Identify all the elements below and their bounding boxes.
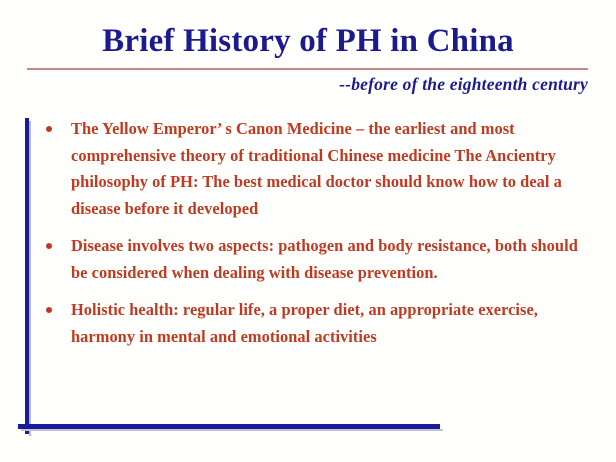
vertical-accent-line [25, 118, 29, 434]
bullet-dot-icon [46, 243, 52, 249]
horizontal-accent-line-shadow [21, 429, 443, 431]
bullet-text: Holistic health: regular life, a proper … [71, 297, 592, 350]
list-item: The Yellow Emperor’ s Canon Medicine – t… [40, 116, 592, 222]
slide-canvas: Brief History of PH in China --before of… [0, 0, 616, 462]
bullet-text: Disease involves two aspects: pathogen a… [71, 233, 592, 286]
list-item: Holistic health: regular life, a proper … [40, 297, 592, 350]
page-title: Brief History of PH in China [0, 22, 616, 60]
bullet-dot-icon [46, 126, 52, 132]
bullet-text: The Yellow Emperor’ s Canon Medicine – t… [71, 116, 592, 222]
horizontal-accent-line [18, 424, 440, 429]
slide-subtitle: --before of the eighteenth century [339, 74, 588, 95]
vertical-accent-line-shadow [29, 121, 31, 436]
title-block: Brief History of PH in China [0, 22, 616, 60]
title-divider-line [27, 68, 588, 70]
bullet-list: The Yellow Emperor’ s Canon Medicine – t… [40, 116, 592, 350]
bullet-dot-icon [46, 307, 52, 313]
list-item: Disease involves two aspects: pathogen a… [40, 233, 592, 286]
